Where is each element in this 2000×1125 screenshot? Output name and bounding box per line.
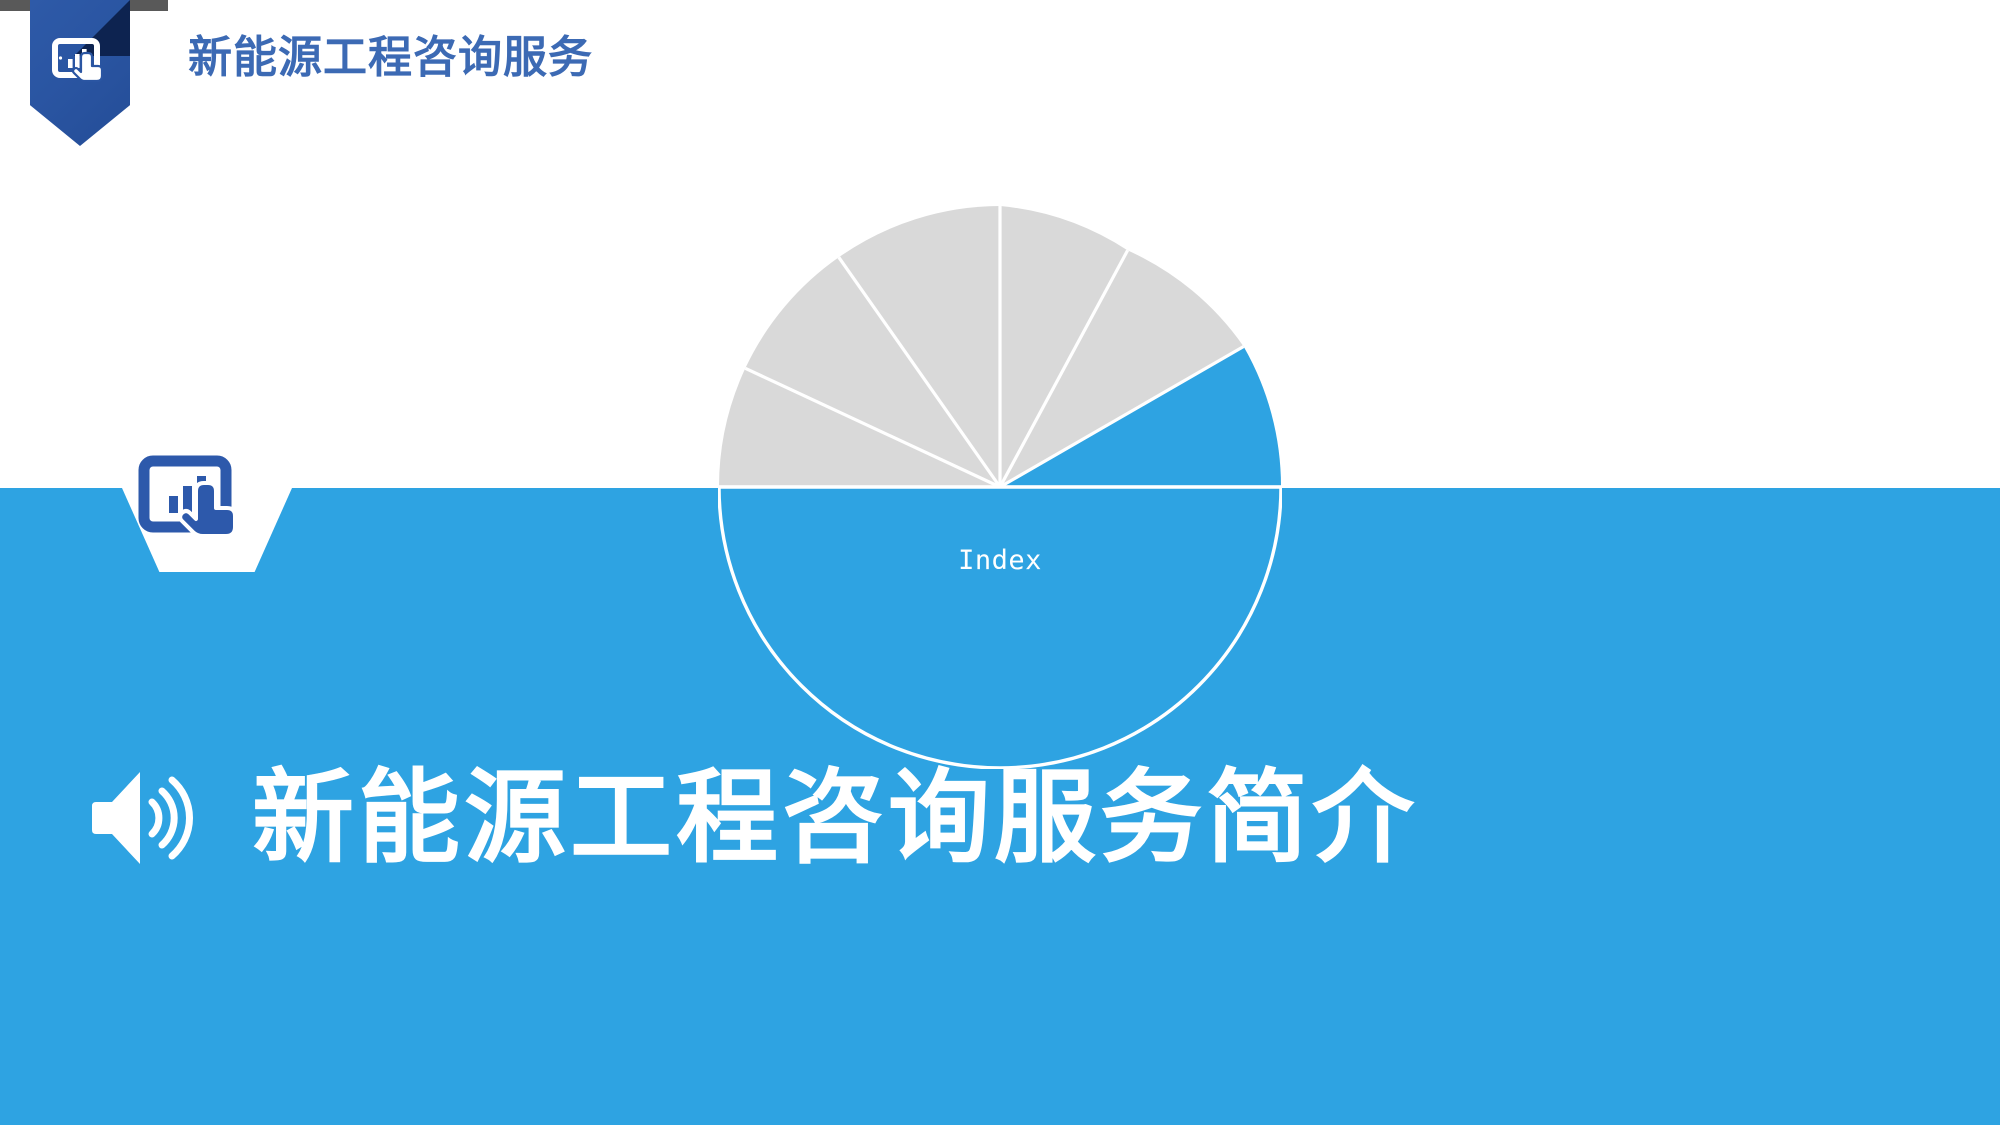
main-heading-text: 新能源工程咨询服务简介 — [252, 762, 1418, 874]
page-title: 新能源工程咨询服务 — [188, 30, 593, 85]
header-ribbon-badge — [30, 0, 130, 146]
main-heading-row: 新能源工程咨询服务简介 — [86, 762, 1418, 874]
speaker-volume-icon — [86, 762, 204, 874]
pie-slice-bottom-half — [719, 487, 1281, 768]
index-pie-chart: Index — [718, 205, 1282, 769]
presentation-slide: 新能源工程咨询服务 — [0, 0, 2000, 1125]
tablet-chart-touch-icon — [138, 455, 246, 539]
pie-center-label: Index — [718, 545, 1282, 576]
pie-chart-svg — [718, 205, 1282, 769]
tablet-chart-touch-icon — [52, 38, 108, 84]
